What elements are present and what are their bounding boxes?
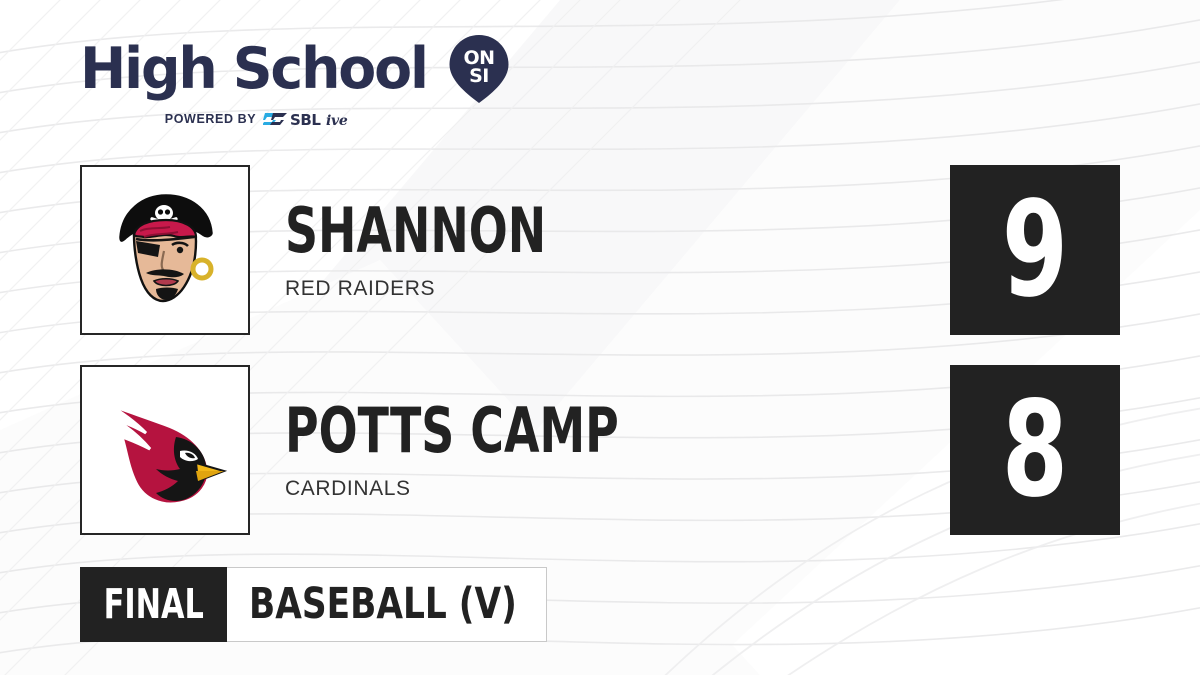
game-status-bar: FINAL BASEBALL (V)	[80, 567, 547, 642]
team-mascot: CARDINALS	[285, 477, 736, 501]
powered-by-row: POWERED BY SBL ive	[80, 109, 510, 129]
team-row: SHANNON RED RAIDERS 9	[0, 165, 1200, 335]
svg-text:SBL: SBL	[290, 111, 321, 129]
cardinal-head-logo-icon	[90, 375, 240, 525]
team-logo-box	[80, 165, 250, 335]
team-row: POTTS CAMP CARDINALS 8	[0, 365, 1200, 535]
powered-by-label: POWERED BY	[165, 112, 256, 126]
pirate-head-logo-icon	[90, 175, 240, 325]
high-school-on-si-logo: High School ON SI POWERED BY SBL ive	[80, 34, 510, 134]
team-score: 8	[1002, 384, 1068, 516]
svg-text:SI: SI	[469, 65, 489, 87]
sport-label: BASEBALL (V)	[249, 583, 517, 626]
svg-text:ive: ive	[326, 113, 348, 129]
team-name: SHANNON	[285, 199, 546, 263]
sblive-logo: SBL ive	[263, 109, 369, 129]
on-si-map-pin-icon: ON SI	[448, 34, 510, 104]
status-label: FINAL	[103, 584, 203, 625]
logo-wordmark-row: High School ON SI	[80, 34, 510, 104]
team-info: SHANNON RED RAIDERS	[285, 165, 638, 335]
team-name: POTTS CAMP	[285, 399, 619, 463]
team-score-box: 8	[950, 365, 1120, 535]
team-mascot: RED RAIDERS	[285, 277, 638, 301]
team-score-box: 9	[950, 165, 1120, 335]
team-logo-box	[80, 365, 250, 535]
status-badge: FINAL	[80, 567, 227, 642]
sport-badge: BASEBALL (V)	[227, 567, 547, 642]
logo-wordmark: High School	[80, 38, 427, 100]
team-info: POTTS CAMP CARDINALS	[285, 365, 736, 535]
team-score: 9	[1002, 184, 1068, 316]
